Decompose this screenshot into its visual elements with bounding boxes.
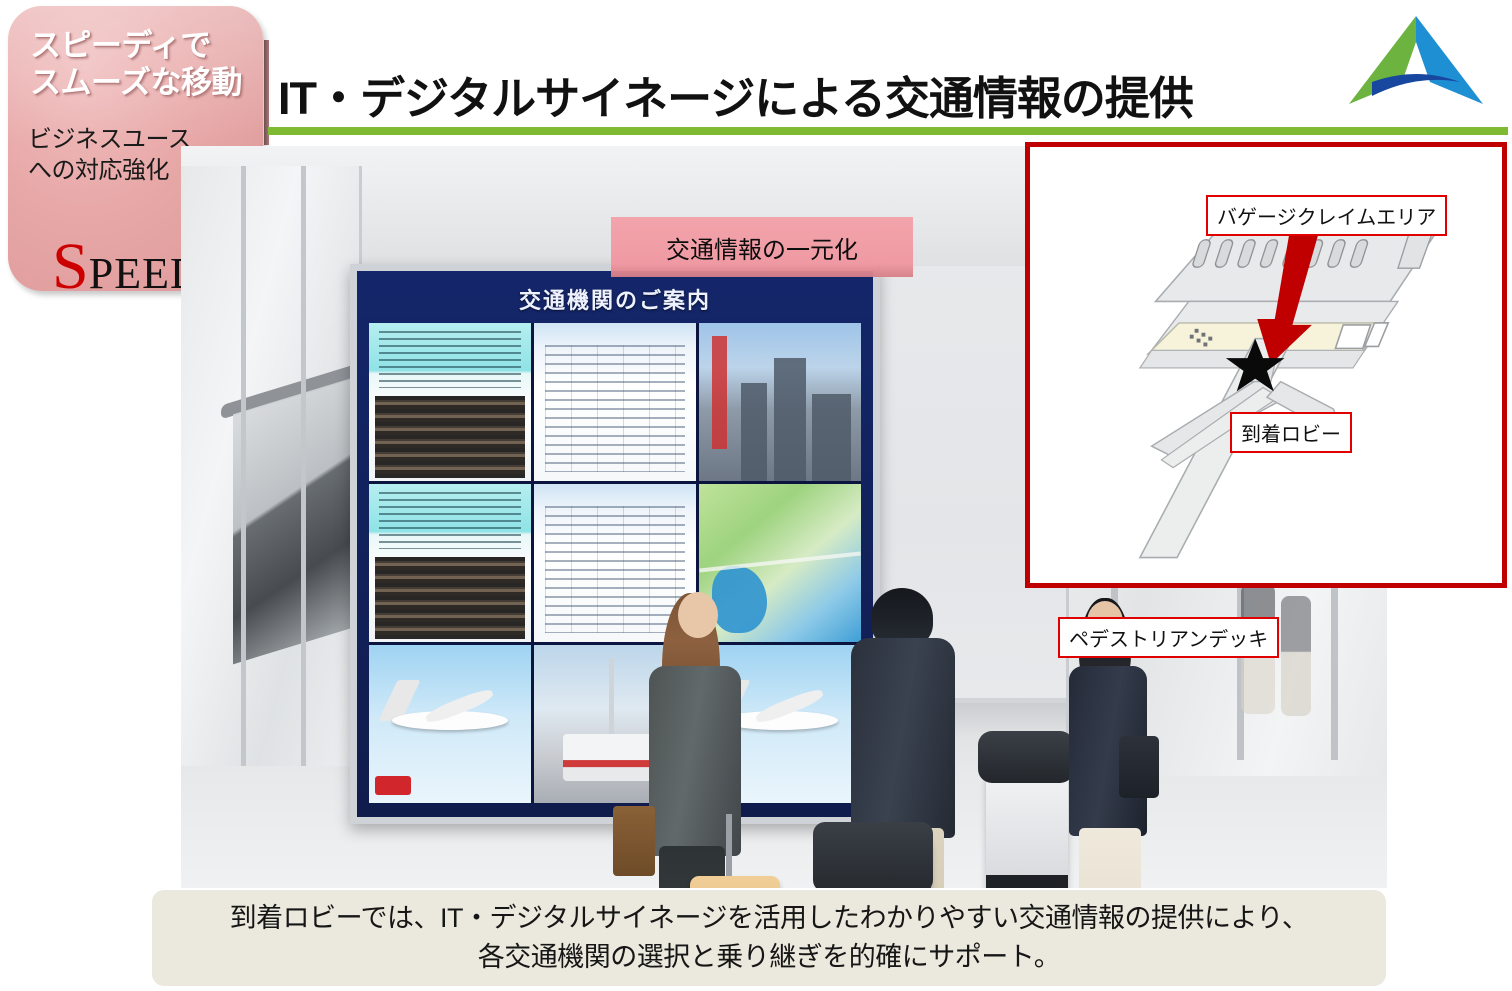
caption-line-2: 各交通機関の選択と乗り継ぎを的確にサポート。 xyxy=(478,938,1060,977)
traveler-man-dark-suit xyxy=(851,638,955,838)
traveler-silver-suitcase xyxy=(986,771,1068,888)
signage-panel-airline-promo xyxy=(369,645,531,803)
background-person xyxy=(1281,596,1311,716)
traveler-shoulder-satchel xyxy=(1119,736,1159,798)
terminal-map-inset: バゲージクレイムエリア 到着ロビー ペデストリアンデッキ xyxy=(1025,142,1507,588)
signage-panel-rail-timetable xyxy=(369,323,531,481)
signage-panel-area-map xyxy=(699,484,861,642)
caption-line-1: 到着ロビーでは、IT・デジタルサイネージを活用したわかりやすい交通情報の提供によ… xyxy=(230,899,1309,938)
escalator xyxy=(233,378,353,665)
page-title: IT・デジタルサイネージによる交通情報の提供 xyxy=(278,62,1318,127)
traveler-woman-head xyxy=(678,592,718,638)
traveler-black-bag xyxy=(978,731,1074,783)
unify-callout-label: 交通情報の一元化 xyxy=(666,230,858,265)
glass-mullion xyxy=(241,166,246,766)
badge-headline: スピーディで スムーズな移動 xyxy=(30,28,250,101)
caption-box: 到着ロビーでは、IT・デジタルサイネージを活用したわかりやすい交通情報の提供によ… xyxy=(152,890,1386,986)
left-glass-wall xyxy=(181,166,362,766)
organization-logo xyxy=(1342,8,1490,120)
map-label-arrival-lobby: 到着ロビー xyxy=(1230,412,1352,453)
title-underline xyxy=(268,127,1508,135)
unify-callout-box: 交通情報の一元化 xyxy=(611,217,913,277)
map-label-pedestrian-deck: ペデストリアンデッキ xyxy=(1058,617,1279,658)
signage-panel-bus-timetable xyxy=(534,323,696,481)
digital-signage-cabinet: 交通機関のご案内 xyxy=(350,264,880,824)
badge-keyword-capital: S xyxy=(52,230,89,291)
signage-panel-city-view xyxy=(699,323,861,481)
glass-mullion xyxy=(301,166,306,766)
traveler-duffel-bag xyxy=(813,822,933,888)
signage-panel-rail-timetable-2 xyxy=(369,484,531,642)
traveler-woman2-legs xyxy=(1079,828,1141,888)
traveler-tan-suitcase xyxy=(690,876,780,888)
signage-header-text: 交通機関のご案内 xyxy=(357,283,873,315)
traveler-brown-handbag xyxy=(613,806,655,876)
signage-video-wall xyxy=(369,323,861,803)
map-label-baggage-claim: バゲージクレイムエリア xyxy=(1206,195,1447,236)
triangle-arrow-logo-icon xyxy=(1342,8,1490,120)
